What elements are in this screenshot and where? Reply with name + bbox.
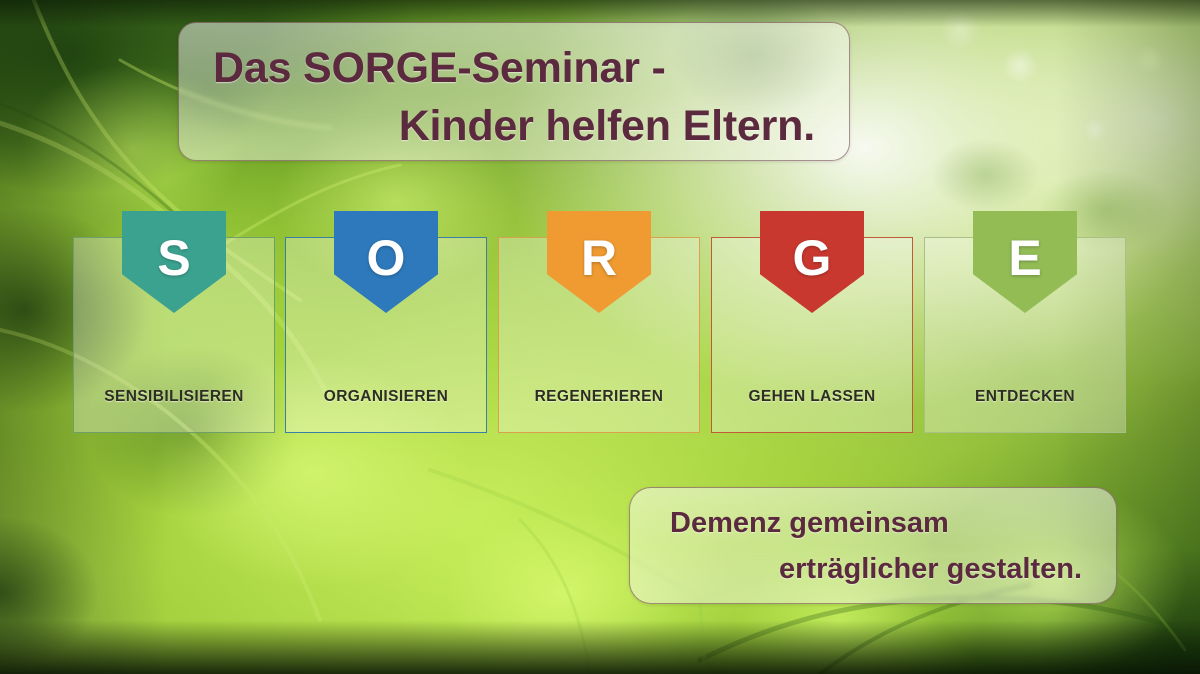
sorge-card-label: REGENERIEREN [498,388,700,406]
title-line-2: Kinder helfen Eltern. [205,97,823,155]
sorge-card-g[interactable]: GGEHEN LASSEN [711,237,913,433]
sorge-card-letter: O [367,233,406,283]
sorge-card-letter: S [157,233,190,283]
sorge-card-letter: G [793,233,832,283]
sorge-card-letter: R [581,233,617,283]
sorge-card-e[interactable]: EENTDECKEN [924,237,1126,433]
sorge-card-label: SENSIBILISIEREN [73,388,275,406]
sorge-card-s[interactable]: SSENSIBILISIEREN [73,237,275,433]
sorge-card-label: GEHEN LASSEN [711,388,913,406]
tagline-line-2: erträglicher gestalten. [658,546,1088,592]
sorge-card-row: SSENSIBILISIERENOORGANISIERENRREGENERIER… [0,211,1200,441]
title-banner: Das SORGE-Seminar - Kinder helfen Eltern… [178,22,850,161]
tagline-banner: Demenz gemeinsam erträglicher gestalten. [629,487,1117,604]
tagline-line-1: Demenz gemeinsam [658,500,1088,546]
sorge-card-o[interactable]: OORGANISIEREN [285,237,487,433]
sorge-card-label: ENTDECKEN [924,388,1126,406]
sorge-card-letter: E [1008,233,1041,283]
title-line-1: Das SORGE-Seminar - [205,39,823,97]
sorge-card-label: ORGANISIEREN [285,388,487,406]
sorge-card-r[interactable]: RREGENERIEREN [498,237,700,433]
slide-canvas: Das SORGE-Seminar - Kinder helfen Eltern… [0,0,1200,674]
